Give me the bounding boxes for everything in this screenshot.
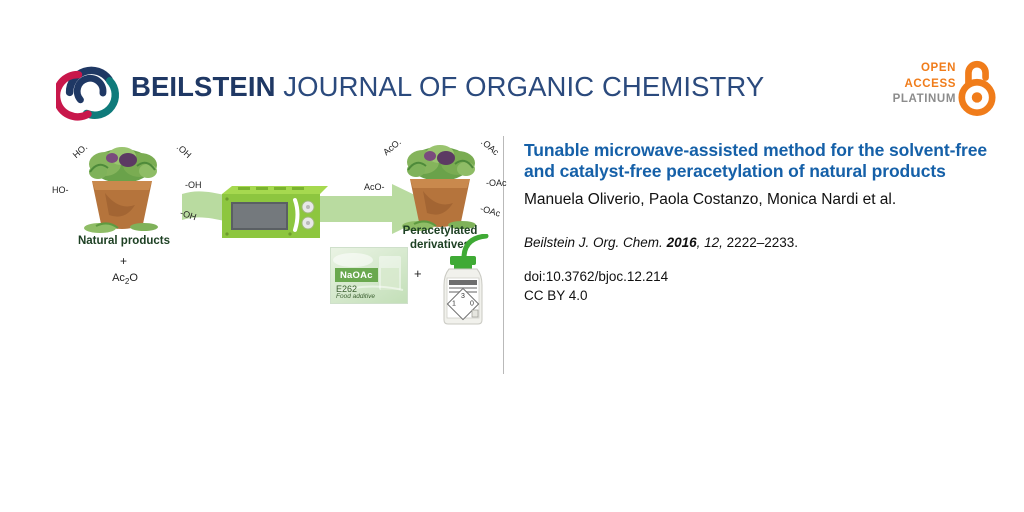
naoac-package: NaOAc E262 Food additive xyxy=(330,247,408,304)
masthead: BEILSTEIN JOURNAL OF ORGANIC CHEMISTRY O… xyxy=(0,0,1024,132)
open-lock-icon xyxy=(958,58,996,116)
open-access-badge[interactable]: OPEN ACCESS PLATINUM xyxy=(884,58,1000,120)
naoac-label: NaOAc xyxy=(335,268,378,282)
citation-sep-3: , xyxy=(719,235,727,250)
open-access-line-access: ACCESS xyxy=(893,77,956,93)
wash-bottle-icon: 1 3 0 xyxy=(428,234,494,326)
svg-text:1: 1 xyxy=(452,301,456,308)
citation-sep-2: , xyxy=(697,235,705,250)
citation-volume: 12 xyxy=(704,235,719,250)
beilstein-spiral-logo[interactable] xyxy=(56,57,124,125)
substituent-label: -OH xyxy=(185,180,202,190)
article-authors: Manuela Oliverio, Paola Costanzo, Monica… xyxy=(524,190,994,210)
journal-title-light: JOURNAL OF ORGANIC CHEMISTRY xyxy=(276,71,765,102)
substituent-label: AcO- xyxy=(364,182,385,192)
substituent-label: -OAc xyxy=(486,178,507,188)
substituent-label: HO- xyxy=(52,185,69,195)
reagent-label: Ac2O xyxy=(90,272,160,286)
graphical-abstract[interactable]: HO. .OH HO- -OH -OH Natural products + A… xyxy=(30,136,496,326)
citation-year: 2016 xyxy=(667,235,697,250)
citation-journal: Beilstein J. Org. Chem. xyxy=(524,235,663,250)
svg-text:3: 3 xyxy=(461,293,465,300)
reagent-post: O xyxy=(129,272,138,284)
citation-pages: 2222–2233. xyxy=(727,235,798,250)
plus-symbol-additive: + xyxy=(414,266,422,281)
open-access-line-open: OPEN xyxy=(893,61,956,77)
article-citation: Beilstein J. Org. Chem. 2016, 12, 2222–2… xyxy=(524,234,994,251)
open-access-text: OPEN ACCESS PLATINUM xyxy=(893,61,956,108)
reactant-caption: Natural products xyxy=(44,234,204,248)
naoac-note: Food additive xyxy=(336,293,375,300)
reagent-pre: Ac xyxy=(112,272,125,284)
journal-title-bold: BEILSTEIN xyxy=(131,71,276,102)
article-doi[interactable]: doi:10.3762/bjoc.12.214 xyxy=(524,267,994,286)
journal-title: BEILSTEIN JOURNAL OF ORGANIC CHEMISTRY xyxy=(131,70,764,104)
article-license[interactable]: CC BY 4.0 xyxy=(524,286,994,305)
article-metadata: Tunable microwave-assisted method for th… xyxy=(524,140,994,305)
plus-symbol-reactant: + xyxy=(120,254,127,268)
microwave-oven-icon xyxy=(216,180,334,242)
open-access-line-platinum: PLATINUM xyxy=(893,92,956,108)
svg-text:0: 0 xyxy=(470,301,474,308)
article-title[interactable]: Tunable microwave-assisted method for th… xyxy=(524,140,994,181)
